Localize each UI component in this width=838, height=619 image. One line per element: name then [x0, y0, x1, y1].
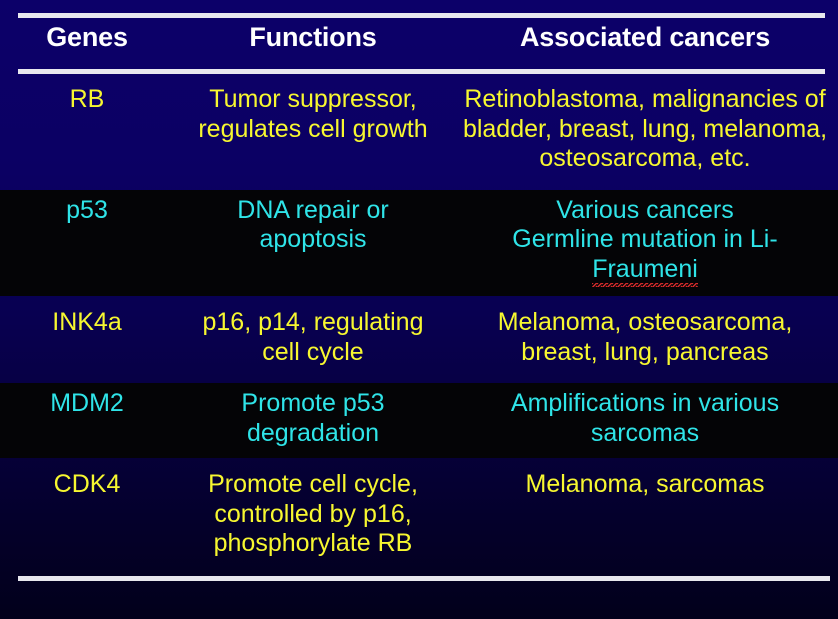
misspelled-word-fraumeni: Fraumeni: [592, 255, 698, 287]
column-header-genes: Genes: [0, 18, 174, 63]
cancer-line-1: Various cancers: [556, 196, 733, 224]
cell-gene-cdk4: CDK4: [0, 464, 174, 569]
cell-gene-mdm2: MDM2: [0, 383, 174, 458]
slide-canvas: Genes Functions Associated cancers RB Tu…: [0, 0, 838, 619]
cancer-line-2-prefix: Germline mutation in Li-: [512, 225, 777, 253]
table-header-row: Genes Functions Associated cancers: [0, 18, 838, 63]
column-header-functions: Functions: [174, 18, 452, 63]
gene-function-cancer-table: Genes Functions Associated cancers RB Tu…: [0, 0, 838, 585]
cell-gene-p53: p53: [0, 190, 174, 297]
table-row: p53 DNA repair or apoptosis Various canc…: [0, 190, 838, 297]
cell-function-ink4a: p16, p14, regulating cell cycle: [174, 302, 452, 377]
table-row: MDM2 Promote p53 degradation Amplificati…: [0, 383, 838, 458]
divider-line: [18, 69, 825, 74]
cell-cancer-mdm2: Amplifications in various sarcomas: [452, 383, 838, 458]
cell-cancer-ink4a: Melanoma, osteosarcoma, breast, lung, pa…: [452, 302, 838, 377]
table-rule-bottom: [0, 569, 838, 585]
cell-function-p53: DNA repair or apoptosis: [174, 190, 452, 297]
header-rule-bottom: [0, 63, 838, 79]
cell-cancer-rb: Retinoblastoma, malignancies of bladder,…: [452, 79, 838, 184]
column-header-associated-cancers: Associated cancers: [452, 18, 838, 63]
cell-function-cdk4: Promote cell cycle, controlled by p16, p…: [174, 464, 452, 569]
divider-line: [18, 13, 825, 18]
cell-cancer-cdk4: Melanoma, sarcomas: [452, 464, 838, 569]
cell-function-rb: Tumor suppressor, regulates cell growth: [174, 79, 452, 184]
header-rule-top: [0, 0, 838, 18]
cell-cancer-p53: Various cancers Germline mutation in Li-…: [452, 190, 838, 297]
cell-gene-ink4a: INK4a: [0, 302, 174, 377]
table-row: RB Tumor suppressor, regulates cell grow…: [0, 79, 838, 184]
table-row: INK4a p16, p14, regulating cell cycle Me…: [0, 302, 838, 377]
cell-gene-rb: RB: [0, 79, 174, 184]
divider-line: [18, 576, 830, 581]
table-row: CDK4 Promote cell cycle, controlled by p…: [0, 464, 838, 569]
cell-function-mdm2: Promote p53 degradation: [174, 383, 452, 458]
